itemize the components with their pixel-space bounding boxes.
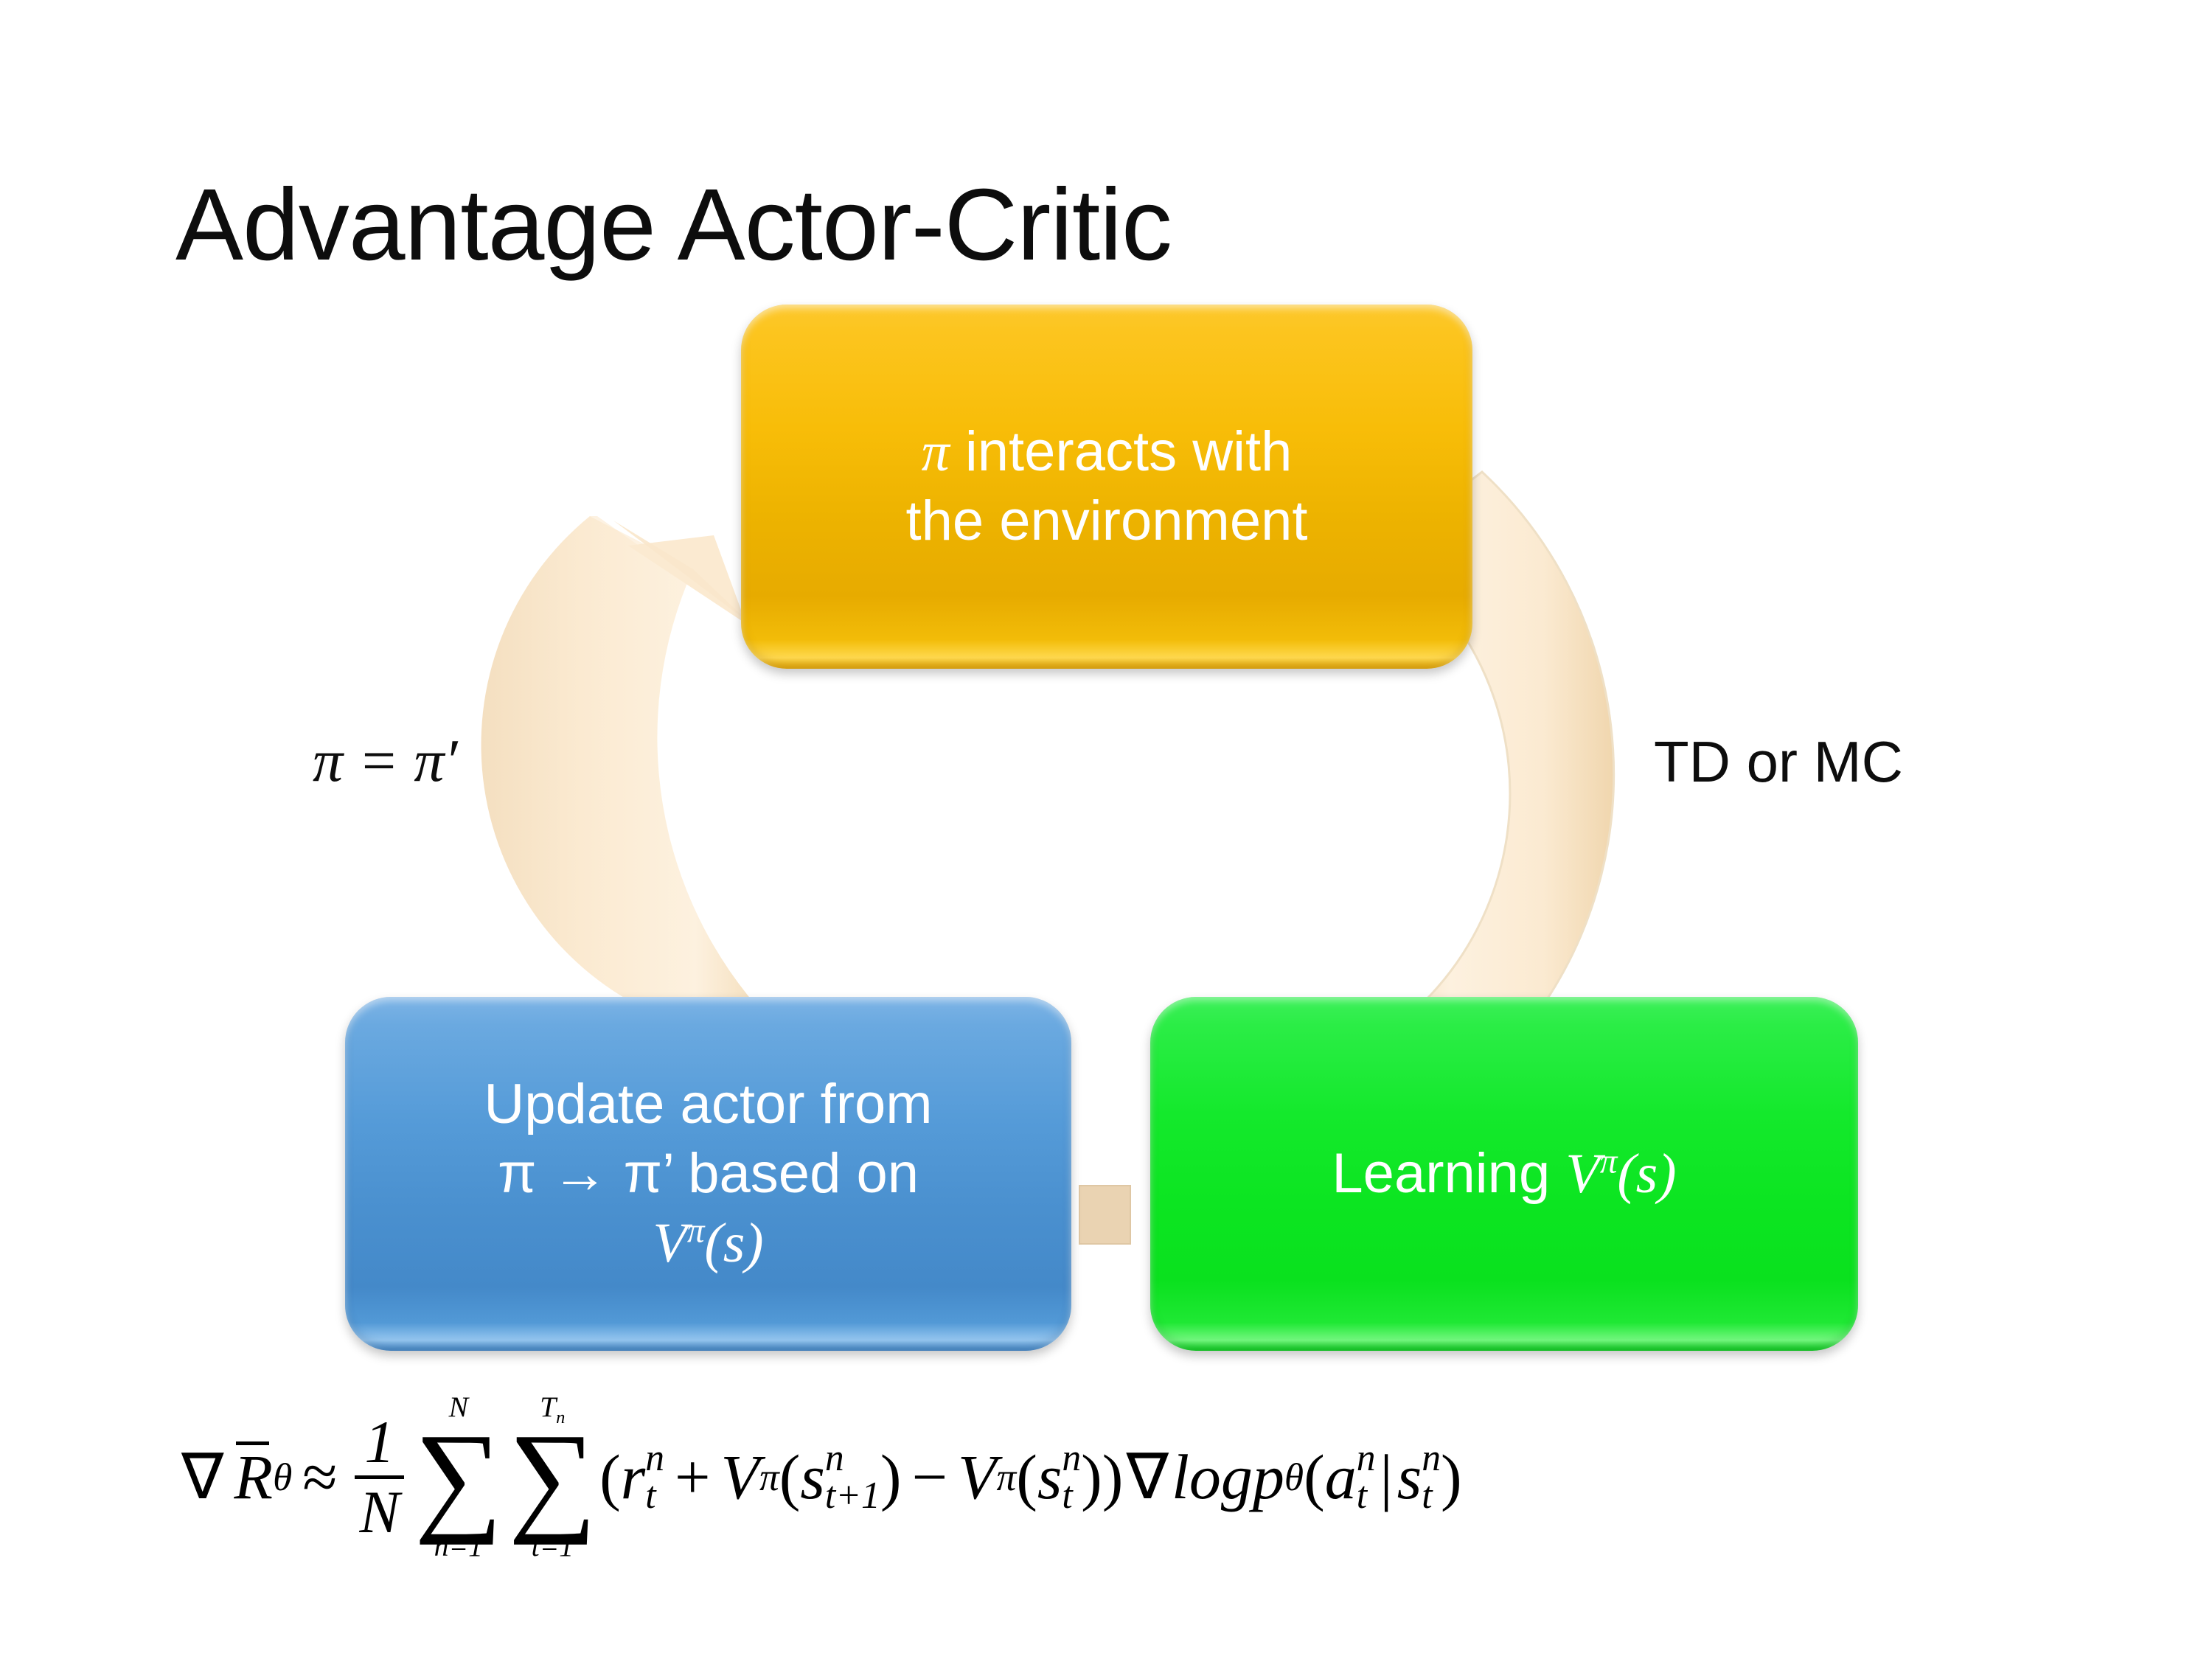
update-actor-line1-text: Update actor from [484,1073,932,1135]
state-arg-green: (s) [1617,1143,1676,1205]
one-over-n-fraction: 1 N [355,1412,404,1542]
value-fn-current: V [958,1440,997,1514]
action-symbol: a [1325,1440,1357,1514]
fraction-numerator: 1 [360,1412,399,1475]
learning-prefix-text: Learning [1332,1142,1565,1205]
open-paren-current-state: ( [1016,1440,1037,1514]
plus-symbol: + [664,1440,721,1514]
nabla-icon: ∇ [181,1440,234,1514]
page-title: Advantage Actor-Critic [175,172,1172,279]
process-box-environment-label: π interacts with the environment [741,417,1472,556]
open-paren-next-state: ( [779,1440,801,1514]
arc-left-pi-update [481,516,767,1018]
approx-symbol: ≈ [292,1440,347,1514]
reward-symbol: r [621,1440,645,1514]
cond-state-subscript: t [1422,1477,1441,1515]
v-symbol-blue: V [653,1212,686,1274]
r-bar-symbol: R [234,1440,274,1514]
environment-line1-text: interacts with [950,420,1293,483]
connector-blue-green [1079,1186,1130,1244]
current-state-symbol: s [1037,1440,1062,1514]
close-paren-advantage: ) [1102,1440,1124,1514]
summation-over-t: Tn ∑ t=1 [509,1392,597,1562]
log-text: log [1172,1440,1253,1514]
pi-superscript-green: π [1600,1143,1618,1181]
cond-state-symbol: s [1397,1440,1422,1514]
current-state-subscript: t [1062,1477,1081,1515]
pi-symbol-env: π [922,421,950,483]
close-paren-current-state: ) [1081,1440,1102,1514]
reward-superscript: n [645,1439,664,1478]
next-state-symbol: s [800,1440,824,1514]
cond-state-superscript: n [1422,1439,1441,1478]
environment-line2-text: the environment [906,490,1308,552]
action-subscript: t [1357,1477,1376,1515]
process-box-update-actor[interactable]: Update actor from π → π’ based on Vπ(s) [345,997,1071,1351]
close-paren-next-state: ) [880,1440,902,1514]
edge-label-pi-equals-pi-prime: π = π′ [313,726,457,796]
policy-prob-symbol: p [1253,1440,1284,1514]
update-actor-line2-text: π → π’ based on [498,1142,919,1205]
pi-superscript-blue: π [687,1212,705,1251]
sum-t-lower-limit: t=1 [532,1531,574,1562]
value-fn-next: V [721,1440,760,1514]
minus-symbol: − [901,1440,958,1514]
sigma-icon-n: ∑ [414,1423,503,1532]
open-paren-logprob: ( [1304,1440,1325,1514]
summation-over-n: N ∑ n=1 [414,1392,503,1562]
current-state-superscript: n [1062,1439,1081,1478]
v-symbol-green: V [1565,1143,1599,1205]
reward-subscript: t [645,1477,664,1515]
process-box-learning-value-label: Learning Vπ(s) [1150,1139,1858,1208]
sum-n-lower-limit: n=1 [434,1531,483,1562]
policy-gradient-formula: ∇Rθ ≈ 1 N N ∑ n=1 Tn ∑ t=1 (r n t +Vπ(s … [181,1392,1462,1562]
next-state-superscript: n [825,1439,880,1478]
sigma-icon-t: ∑ [509,1423,597,1532]
open-paren-advantage: ( [599,1440,621,1514]
edge-label-td-or-mc: TD or MC [1654,728,1903,796]
state-arg-blue: (s) [704,1212,763,1274]
fraction-denominator: N [355,1475,404,1543]
log-prob-term: ∇logpθ(a n t |s n t ) [1123,1439,1461,1515]
nabla-icon-2: ∇ [1123,1440,1172,1514]
slide-canvas: Advantage Actor-Critic [0,0,2212,1659]
advantage-term: (r n t +Vπ(s n t+1 )−Vπ(s n t )) [599,1439,1123,1515]
action-superscript: n [1357,1439,1376,1478]
process-box-environment[interactable]: π interacts with the environment [741,305,1472,669]
process-box-learning-value[interactable]: Learning Vπ(s) [1150,997,1858,1351]
process-box-update-actor-label: Update actor from π → π’ based on Vπ(s) [345,1070,1071,1279]
conditional-bar: | [1376,1440,1397,1514]
next-state-subscript: t+1 [825,1477,880,1515]
close-paren-logprob: ) [1441,1440,1462,1514]
